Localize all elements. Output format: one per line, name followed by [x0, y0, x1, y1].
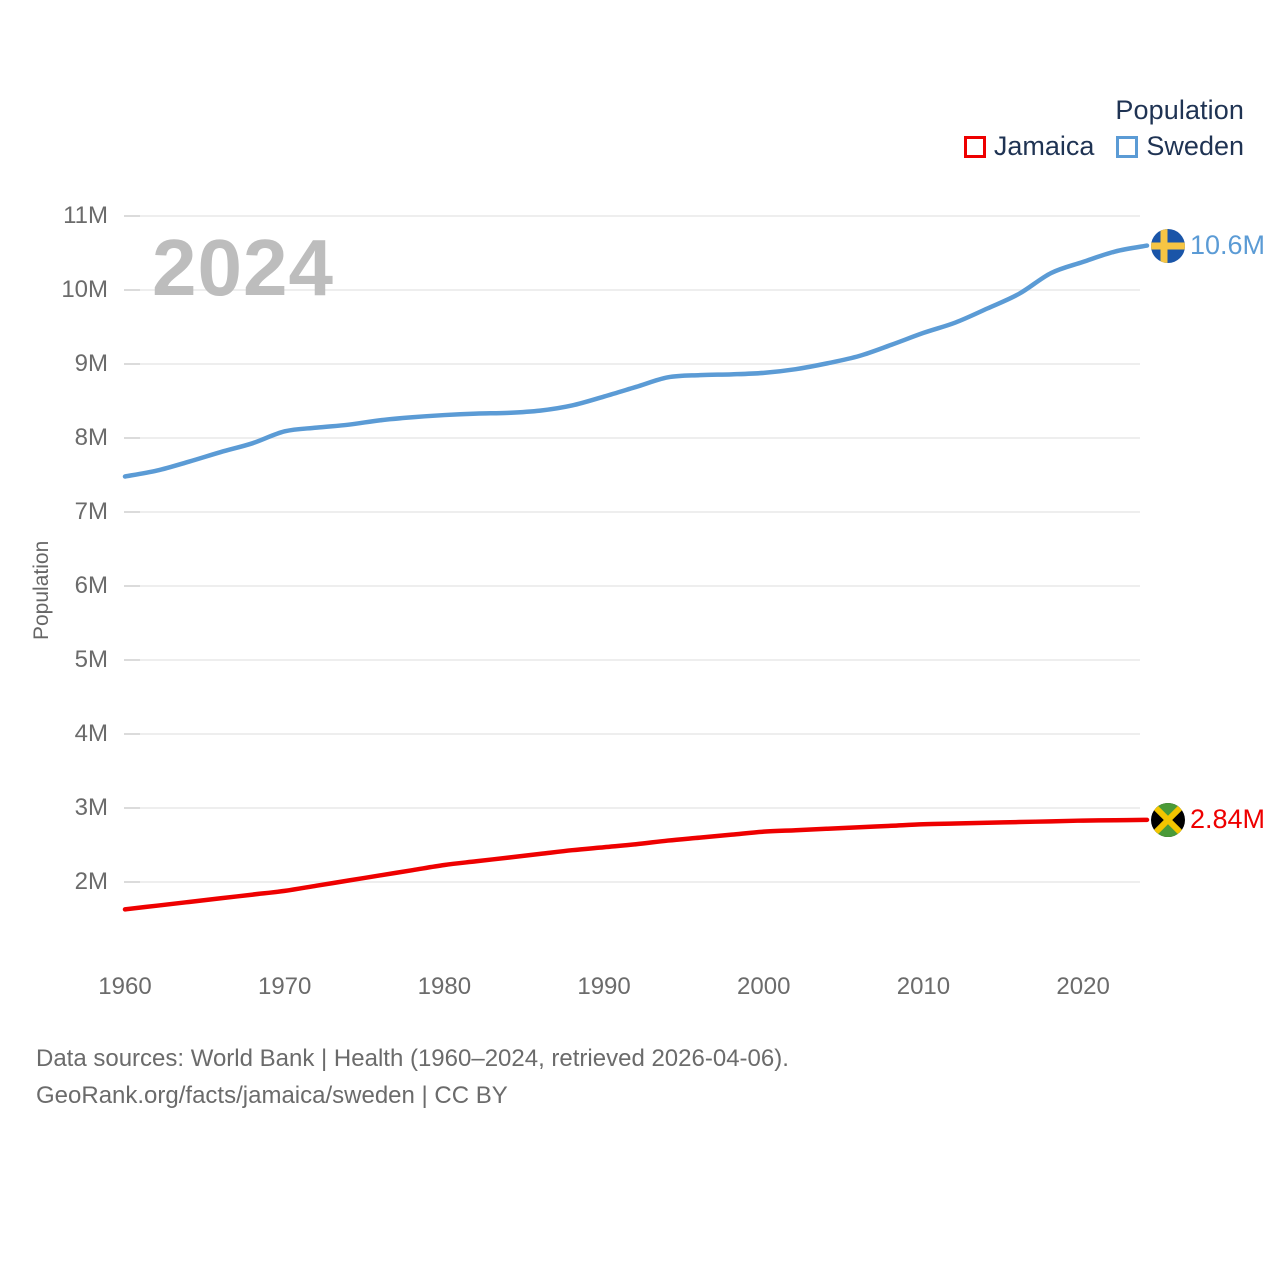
y-tick-label: 11M [18, 204, 108, 228]
y-tick-label: 9M [18, 352, 108, 376]
y-tick-label: 8M [18, 426, 108, 450]
x-tick-label: 1980 [384, 975, 504, 999]
footer-line-1: Data sources: World Bank | Health (1960–… [36, 1040, 789, 1077]
year-watermark: 2024 [152, 228, 334, 308]
sweden-flag-svg [1151, 229, 1185, 263]
chart-root: Population Jamaica Sweden 2024 Populatio… [0, 0, 1280, 1280]
jamaica-flag-svg [1151, 803, 1185, 837]
series-line-jamaica [125, 820, 1147, 910]
x-tick-label: 1970 [225, 975, 345, 999]
x-tick-label: 1990 [544, 975, 664, 999]
y-tick-label: 5M [18, 648, 108, 672]
x-tick-label: 2020 [1023, 975, 1143, 999]
footer-attribution: Data sources: World Bank | Health (1960–… [36, 1040, 789, 1114]
endpoint-value-jamaica: 2.84M [1190, 806, 1265, 833]
gridlines [140, 216, 1140, 882]
y-tick-label: 3M [18, 796, 108, 820]
y-tick-label: 4M [18, 722, 108, 746]
endpoint-value-sweden: 10.6M [1190, 232, 1265, 259]
axis-tick-marks [124, 216, 140, 882]
x-tick-label: 1960 [65, 975, 185, 999]
footer-line-2: GeoRank.org/facts/jamaica/sweden | CC BY [36, 1077, 789, 1114]
y-tick-label: 7M [18, 500, 108, 524]
y-tick-label: 10M [18, 278, 108, 302]
y-tick-label: 2M [18, 870, 108, 894]
x-tick-label: 2010 [863, 975, 983, 999]
x-tick-label: 2000 [704, 975, 824, 999]
sweden-flag-icon [1151, 229, 1185, 263]
jamaica-flag-icon [1151, 803, 1185, 837]
y-tick-label: 6M [18, 574, 108, 598]
